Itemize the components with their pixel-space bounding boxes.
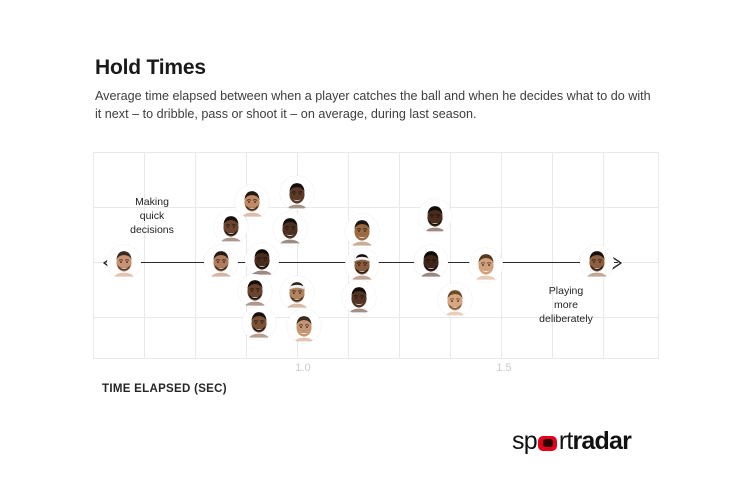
gridline-vertical xyxy=(144,152,145,359)
sportradar-logo: sp rt radar xyxy=(512,428,631,454)
player-avatar[interactable] xyxy=(342,280,376,314)
plot-border-top xyxy=(93,152,659,153)
player-face-icon xyxy=(242,277,268,306)
page-title: Hold Times xyxy=(95,56,665,79)
player-face-icon xyxy=(208,248,234,277)
player-avatar[interactable] xyxy=(438,283,472,317)
plot-border-bottom xyxy=(93,358,659,359)
annotation-right-line-1: Playing xyxy=(520,285,612,299)
player-avatar[interactable] xyxy=(238,274,272,308)
annotation-right-line-2: more xyxy=(520,299,612,313)
x-tick-label-1-5: 1.5 xyxy=(484,362,524,374)
player-avatar[interactable] xyxy=(414,245,448,279)
player-avatar[interactable] xyxy=(273,212,307,246)
player-face-icon xyxy=(474,251,500,280)
annotation-playing-more-deliberately: Playing more deliberately xyxy=(520,285,612,327)
player-avatar[interactable] xyxy=(580,245,614,279)
player-face-icon xyxy=(584,248,610,277)
chart-subtitle: Average time elapsed between when a play… xyxy=(95,88,655,124)
player-avatar[interactable] xyxy=(245,243,279,277)
player-avatar[interactable] xyxy=(242,306,276,340)
player-avatar[interactable] xyxy=(418,199,452,233)
player-avatar[interactable] xyxy=(345,248,379,282)
x-tick-label-1-0: 1.0 xyxy=(283,362,323,374)
gridline-vertical xyxy=(195,152,196,359)
gridline-vertical xyxy=(93,152,94,359)
player-face-icon xyxy=(349,217,375,246)
gridline-vertical xyxy=(501,152,502,359)
x-axis-title: TIME ELAPSED (SEC) xyxy=(102,383,227,395)
annotation-making-quick-decisions: Making quick decisions xyxy=(106,196,198,238)
player-avatar[interactable] xyxy=(204,245,238,279)
player-face-icon xyxy=(218,213,244,242)
player-face-icon xyxy=(246,309,272,338)
gridline-vertical xyxy=(658,152,659,359)
chart-header: Hold Times Average time elapsed between … xyxy=(95,56,665,124)
logo-text-radar: radar xyxy=(572,429,631,454)
gridline-vertical xyxy=(552,152,553,359)
annotation-left-line-1: Making xyxy=(106,196,198,210)
player-face-icon xyxy=(284,279,310,308)
player-face-icon xyxy=(291,312,317,341)
player-face-icon xyxy=(249,246,275,275)
player-face-icon xyxy=(277,215,303,244)
annotation-right-line-3: deliberately xyxy=(520,313,612,327)
player-avatar[interactable] xyxy=(345,214,379,248)
player-face-icon xyxy=(111,248,137,277)
player-avatar[interactable] xyxy=(107,245,141,279)
gridline-vertical xyxy=(399,152,400,359)
logo-o-mark-icon xyxy=(538,436,557,451)
logo-text-sp: sp xyxy=(512,429,537,454)
annotation-left-line-2: quick xyxy=(106,210,198,224)
player-avatar[interactable] xyxy=(280,176,314,210)
player-face-icon xyxy=(418,248,444,277)
logo-text-rt: rt xyxy=(559,429,573,454)
player-face-icon xyxy=(284,179,310,208)
player-face-icon xyxy=(442,286,468,315)
player-avatar[interactable] xyxy=(287,309,321,343)
gridline-vertical xyxy=(450,152,451,359)
player-avatar[interactable] xyxy=(469,248,503,282)
player-avatar[interactable] xyxy=(214,210,248,244)
player-face-icon xyxy=(346,283,372,312)
player-avatar[interactable] xyxy=(280,276,314,310)
annotation-left-line-3: decisions xyxy=(106,224,198,238)
player-face-icon xyxy=(349,251,375,280)
player-face-icon xyxy=(422,202,448,231)
